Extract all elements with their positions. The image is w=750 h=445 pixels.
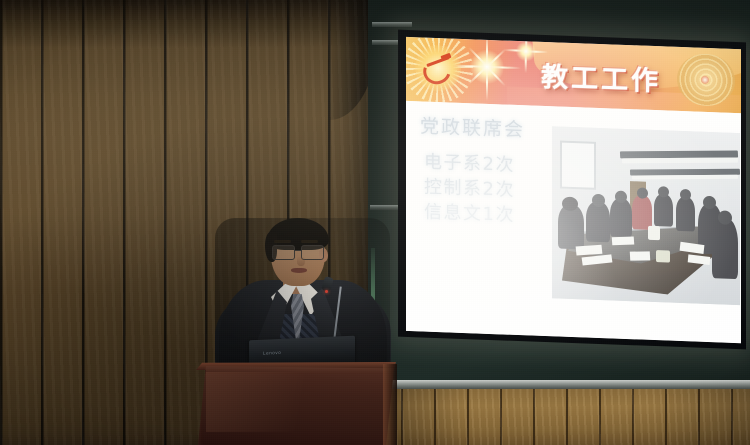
presenter-nose xyxy=(297,256,305,266)
wooden-podium xyxy=(198,366,394,445)
starburst-spike xyxy=(486,67,488,101)
presenter-mouth xyxy=(291,268,307,273)
projection-screen: 教工工作 党政联席会 电子系2次 控制系2次 信息文1次 xyxy=(398,30,746,350)
photo-table-item xyxy=(648,226,660,240)
photo-ceiling-light xyxy=(622,158,738,164)
presenter-eyebrow-left xyxy=(274,240,291,243)
photo-attendee xyxy=(712,218,738,279)
laptop-brand-label: Lenovo xyxy=(263,350,281,356)
slide-bullet-list: 电子系2次 控制系2次 信息文1次 xyxy=(424,150,515,228)
slide-body: 党政联席会 电子系2次 控制系2次 信息文1次 xyxy=(406,101,741,343)
list-item: 控制系2次 xyxy=(424,175,515,203)
photo-attendee-head xyxy=(615,191,627,203)
wood-wainscot-panelling xyxy=(368,389,750,445)
photo-documents xyxy=(576,245,603,256)
slide-subtitle: 党政联席会 xyxy=(420,111,525,142)
photo-documents xyxy=(612,237,635,246)
starburst-spike xyxy=(486,37,488,67)
wall-top-shadow xyxy=(0,0,375,48)
conference-room-photo: 教工工作 党政联席会 电子系2次 控制系2次 信息文1次 xyxy=(0,0,750,445)
photo-window xyxy=(560,141,596,190)
photo-attendee xyxy=(586,202,610,243)
microphone-status-led xyxy=(325,290,328,293)
photo-attendee xyxy=(676,197,695,232)
photo-attendee-head xyxy=(592,194,605,207)
photo-attendee-head xyxy=(658,186,669,197)
photo-attendee xyxy=(632,195,652,230)
photo-documents xyxy=(630,251,650,260)
photo-attendee xyxy=(558,204,584,249)
projected-slide: 教工工作 党政联席会 电子系2次 控制系2次 信息文1次 xyxy=(406,37,741,343)
photo-table-item xyxy=(656,250,670,263)
photo-attendee-cap xyxy=(562,197,578,212)
presenter-eyebrow-right xyxy=(301,240,318,243)
photo-attendee-head xyxy=(718,210,732,225)
slide-header-title: 教工工作 xyxy=(541,55,661,98)
list-item: 信息文1次 xyxy=(424,200,515,228)
photo-attendee-head xyxy=(703,196,716,209)
slide-meeting-photo xyxy=(552,126,740,305)
photo-attendee-head xyxy=(637,187,648,198)
communist-party-emblem-icon xyxy=(409,38,467,98)
starburst-spike xyxy=(525,51,527,73)
starburst-icon-large xyxy=(470,49,504,84)
sickle-shape xyxy=(419,53,456,89)
photo-attendee-head xyxy=(680,189,691,200)
eyeglass-lens-left xyxy=(272,245,295,260)
board-rail-upper xyxy=(372,22,412,27)
starburst-spike xyxy=(525,37,527,51)
list-item: 电子系2次 xyxy=(424,150,515,178)
photo-attendee xyxy=(610,198,632,237)
podium-right-edge xyxy=(383,364,397,445)
photo-ceiling-light xyxy=(632,175,738,180)
hammer-sickle-icon xyxy=(421,50,455,85)
starburst-icon-small xyxy=(516,41,536,62)
slide-header-band: 教工工作 xyxy=(406,37,741,113)
photo-attendee xyxy=(654,194,673,227)
